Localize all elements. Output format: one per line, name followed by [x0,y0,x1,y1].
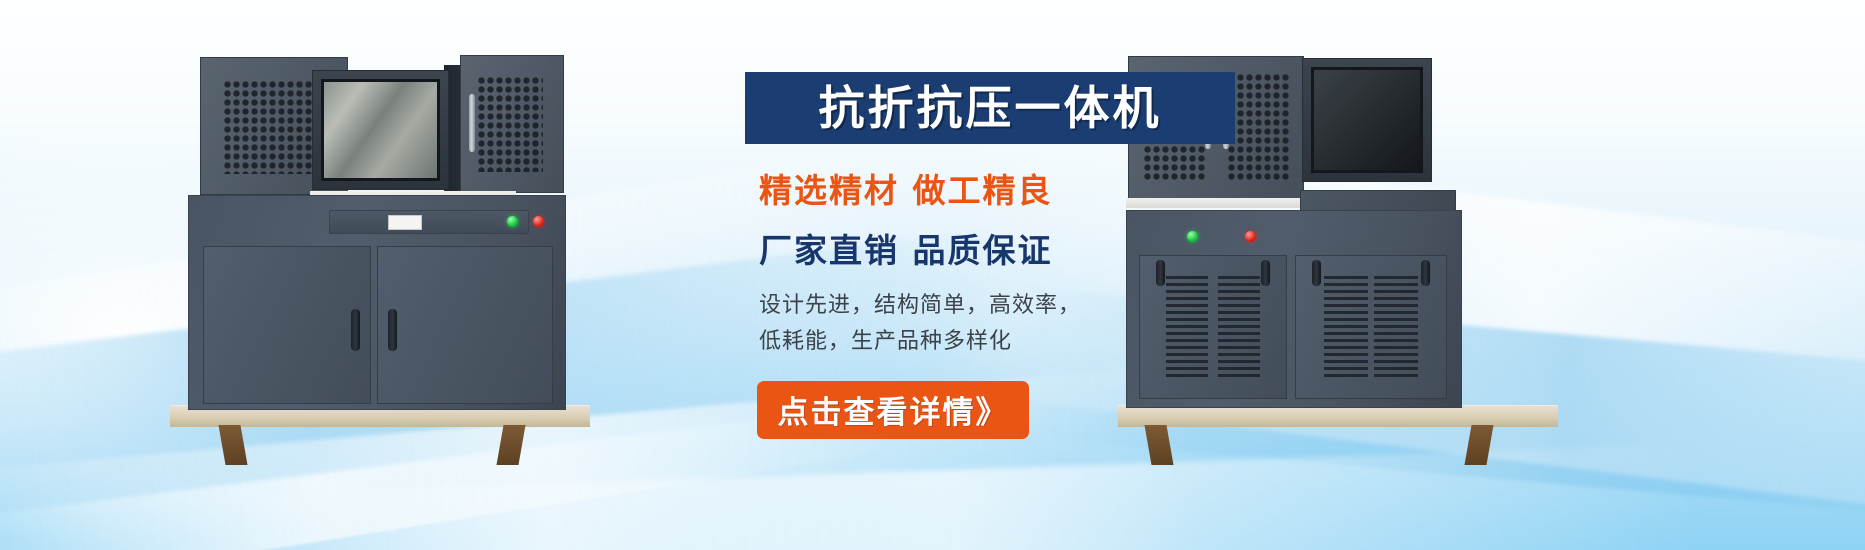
description-line-1: 设计先进，结构简单，高效率， [759,288,1265,324]
cabinet-door-left [203,246,371,404]
control-label [388,215,422,230]
door-handle-icon [351,309,360,351]
wooden-pallet-left [170,405,590,467]
cabinet-door-right [377,246,553,404]
panel-handle-icon [469,94,475,152]
description-block: 设计先进，结构简单，高效率， 低耗能，生产品种多样化 [745,288,1265,361]
description-line-2: 低耗能，生产品种多样化 [759,324,1265,360]
cta-button-label: 点击查看详情》 [778,387,1009,432]
banner-title: 抗折抗压一体机 [819,85,1162,131]
cta-button[interactable]: 点击查看详情》 [757,381,1029,439]
ventilation-louvers [1324,276,1368,380]
door-handle-icon [1421,260,1430,286]
cabinet-door-right [1295,255,1447,399]
main-cabinet-left [188,195,566,410]
monitor-screen [321,79,440,181]
control-monitor-left [312,70,449,190]
upper-perforated-panel-right [460,55,564,193]
headline-navy: 厂家直销 品质保证 [745,224,1265,272]
control-monitor-right [1302,58,1432,182]
headline-orange: 精选精材 做工精良 [745,164,1265,212]
perforation-grid [223,80,319,174]
monitor-screen [1311,67,1423,173]
door-handle-icon [1312,260,1321,286]
promotional-banner: 抗折抗压一体机 精选精材 做工精良 厂家直销 品质保证 设计先进，结构简单，高效… [0,0,1865,550]
red-indicator-light [533,216,544,227]
banner-title-bar: 抗折抗压一体机 [745,72,1235,144]
green-indicator-light [507,216,518,227]
ventilation-louvers [1374,276,1418,380]
door-handle-icon [388,309,397,351]
control-panel-bar [329,210,529,234]
banner-copy-block: 抗折抗压一体机 精选精材 做工精良 厂家直销 品质保证 设计先进，结构简单，高效… [745,72,1265,439]
product-image-left-machine [160,45,600,445]
perforation-grid [477,76,543,172]
